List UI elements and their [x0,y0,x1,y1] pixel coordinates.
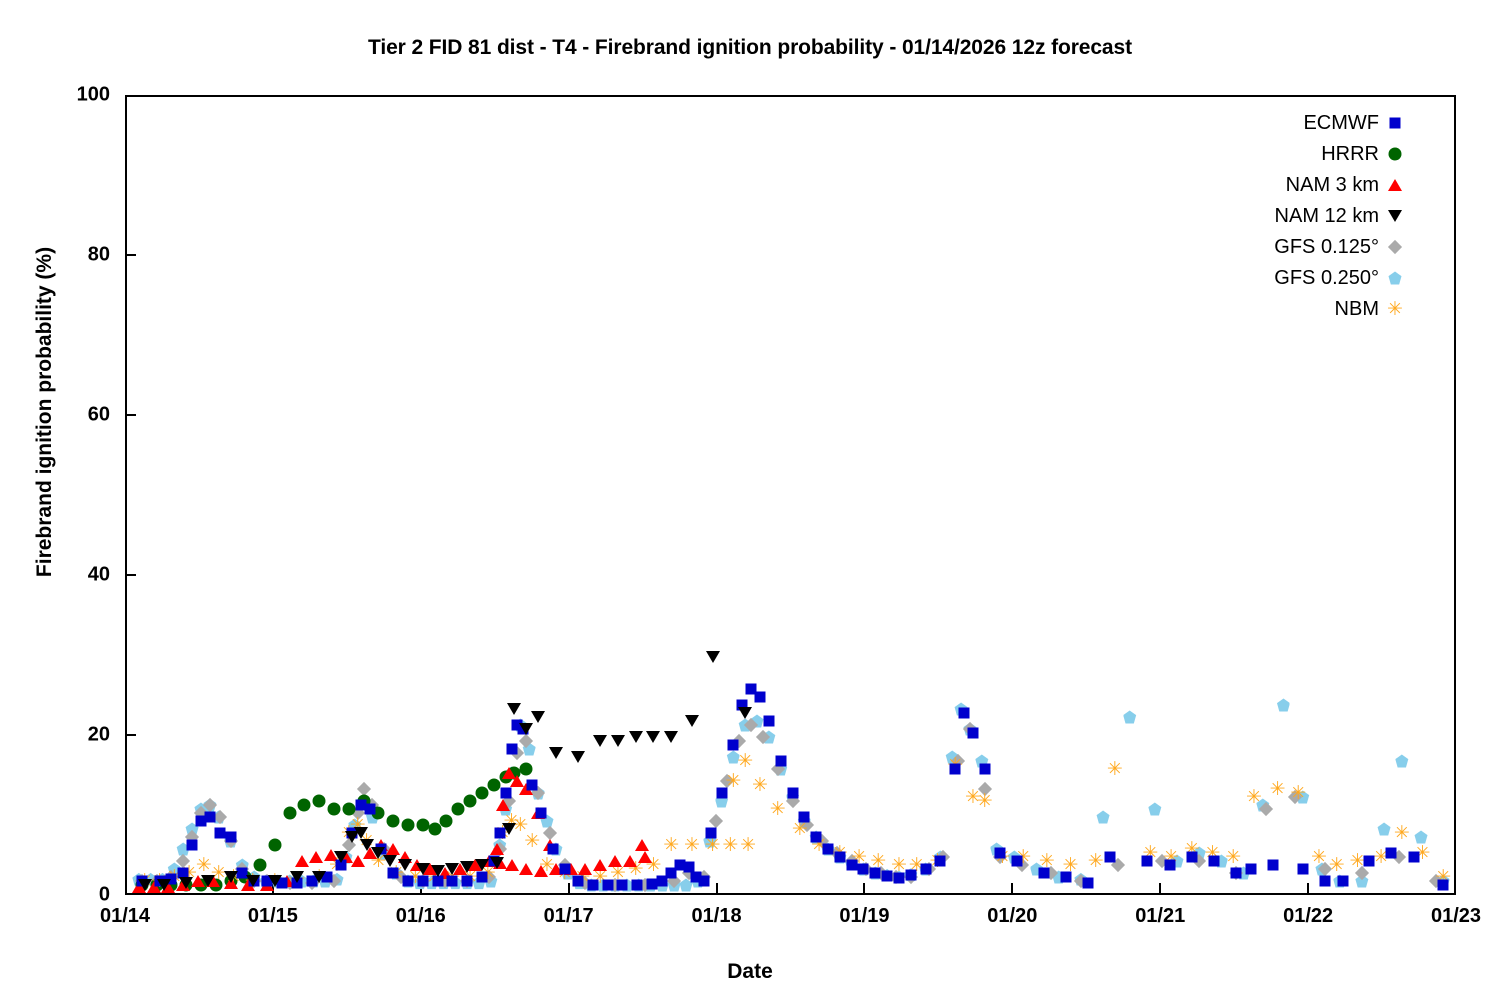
data-point-nam-12km [445,863,459,875]
y-tick-label: 40 [40,564,110,587]
chart-figure: Tier 2 FID 81 dist - T4 - Firebrand igni… [0,0,1500,1000]
x-tick-label: 01/18 [657,905,777,928]
data-point-nam-12km [246,875,260,887]
data-point-nam-12km [475,859,489,871]
lightblue-pentagon-marker-icon [1385,263,1405,294]
data-point-nam-12km [531,711,545,723]
x-tick-label: 01/14 [65,905,185,928]
y-tick-label: 80 [40,244,110,267]
lightblue-pentagon-marker-icon [1389,272,1402,285]
black-triangle-down-marker-icon [1388,210,1402,222]
green-circle-marker-icon [1385,139,1405,170]
data-point-nam-12km [629,731,643,743]
data-point-nam-12km [201,875,215,887]
data-point-nam-12km [664,731,678,743]
data-point-nam-12km [268,875,282,887]
y-tick-label: 60 [40,404,110,427]
data-point-nam-12km [157,879,171,891]
data-point-gfs-0250 [1454,876,1456,889]
legend-item-gfs-0125[interactable]: GFS 0.125° [1190,232,1405,263]
orange-asterisk-marker-icon [1385,294,1405,325]
legend-item-label: GFS 0.250° [1274,267,1379,290]
chart-legend: ECMWFHRRRNAM 3 kmNAM 12 kmGFS 0.125°GFS … [1190,108,1405,325]
blue-square-marker-icon [1390,118,1401,129]
y-tick-label: 100 [40,84,110,107]
legend-item-nam-12km[interactable]: NAM 12 km [1190,201,1405,232]
x-axis-label: Date [0,960,1500,984]
legend-item-label: GFS 0.125° [1274,236,1379,259]
data-point-nam-12km [360,839,374,851]
red-triangle-up-marker-icon [1388,179,1402,191]
data-point-nam-12km [460,861,474,873]
data-point-nam-12km [398,859,412,871]
data-point-nam-12km [685,715,699,727]
x-tick-label: 01/17 [509,905,629,928]
legend-item-label: HRRR [1321,143,1379,166]
data-point-nam-12km [431,865,445,877]
data-point-nam-12km [179,877,193,889]
data-point-nam-12km [593,735,607,747]
data-point-nam-12km [224,871,238,883]
data-point-nam-12km [371,847,385,859]
data-point-nam-12km [646,731,660,743]
data-point-nam-12km [738,707,752,719]
legend-item-nam-3km[interactable]: NAM 3 km [1190,170,1405,201]
data-point-nam-12km [383,855,397,867]
legend-item-label: NAM 3 km [1286,174,1379,197]
red-triangle-up-marker-icon [1385,170,1405,201]
chart-title: Tier 2 FID 81 dist - T4 - Firebrand igni… [0,36,1500,60]
x-tick-label: 01/19 [804,905,924,928]
y-tick-label: 0 [40,884,110,907]
x-tick-label: 01/16 [361,905,481,928]
data-point-nam-12km [490,857,504,869]
gray-diamond-marker-icon [1385,232,1405,263]
orange-asterisk-marker-icon [1387,301,1403,317]
x-tick-label: 01/23 [1396,905,1500,928]
green-circle-marker-icon [1389,148,1402,161]
legend-item-ecmwf[interactable]: ECMWF [1190,108,1405,139]
data-point-nam-12km [334,851,348,863]
data-point-nam-12km [571,751,585,763]
data-point-nam-12km [290,871,304,883]
black-triangle-down-marker-icon [1385,201,1405,232]
data-point-nam-12km [519,723,533,735]
data-point-nam-12km [312,871,326,883]
legend-item-label: NBM [1335,298,1379,321]
legend-item-gfs-0250[interactable]: GFS 0.250° [1190,263,1405,294]
data-point-nam-12km [354,827,368,839]
x-tick-label: 01/22 [1248,905,1368,928]
legend-item-nbm[interactable]: NBM [1190,294,1405,325]
x-tick-label: 01/21 [1100,905,1220,928]
blue-square-marker-icon [1385,108,1405,139]
legend-item-hrrr[interactable]: HRRR [1190,139,1405,170]
y-tick-label: 20 [40,724,110,747]
data-point-nam-12km [706,651,720,663]
data-point-nam-12km [416,863,430,875]
data-point-nam-12km [507,703,521,715]
x-tick-label: 01/20 [952,905,1072,928]
gray-diamond-marker-icon [1388,240,1402,254]
data-point-nam-12km [138,879,152,891]
legend-item-label: ECMWF [1303,112,1379,135]
data-point-nam-12km [611,735,625,747]
data-point-nam-12km [502,823,516,835]
legend-item-label: NAM 12 km [1275,205,1379,228]
data-point-nam-12km [345,831,359,843]
data-point-nam-12km [549,747,563,759]
x-tick-label: 01/15 [213,905,333,928]
